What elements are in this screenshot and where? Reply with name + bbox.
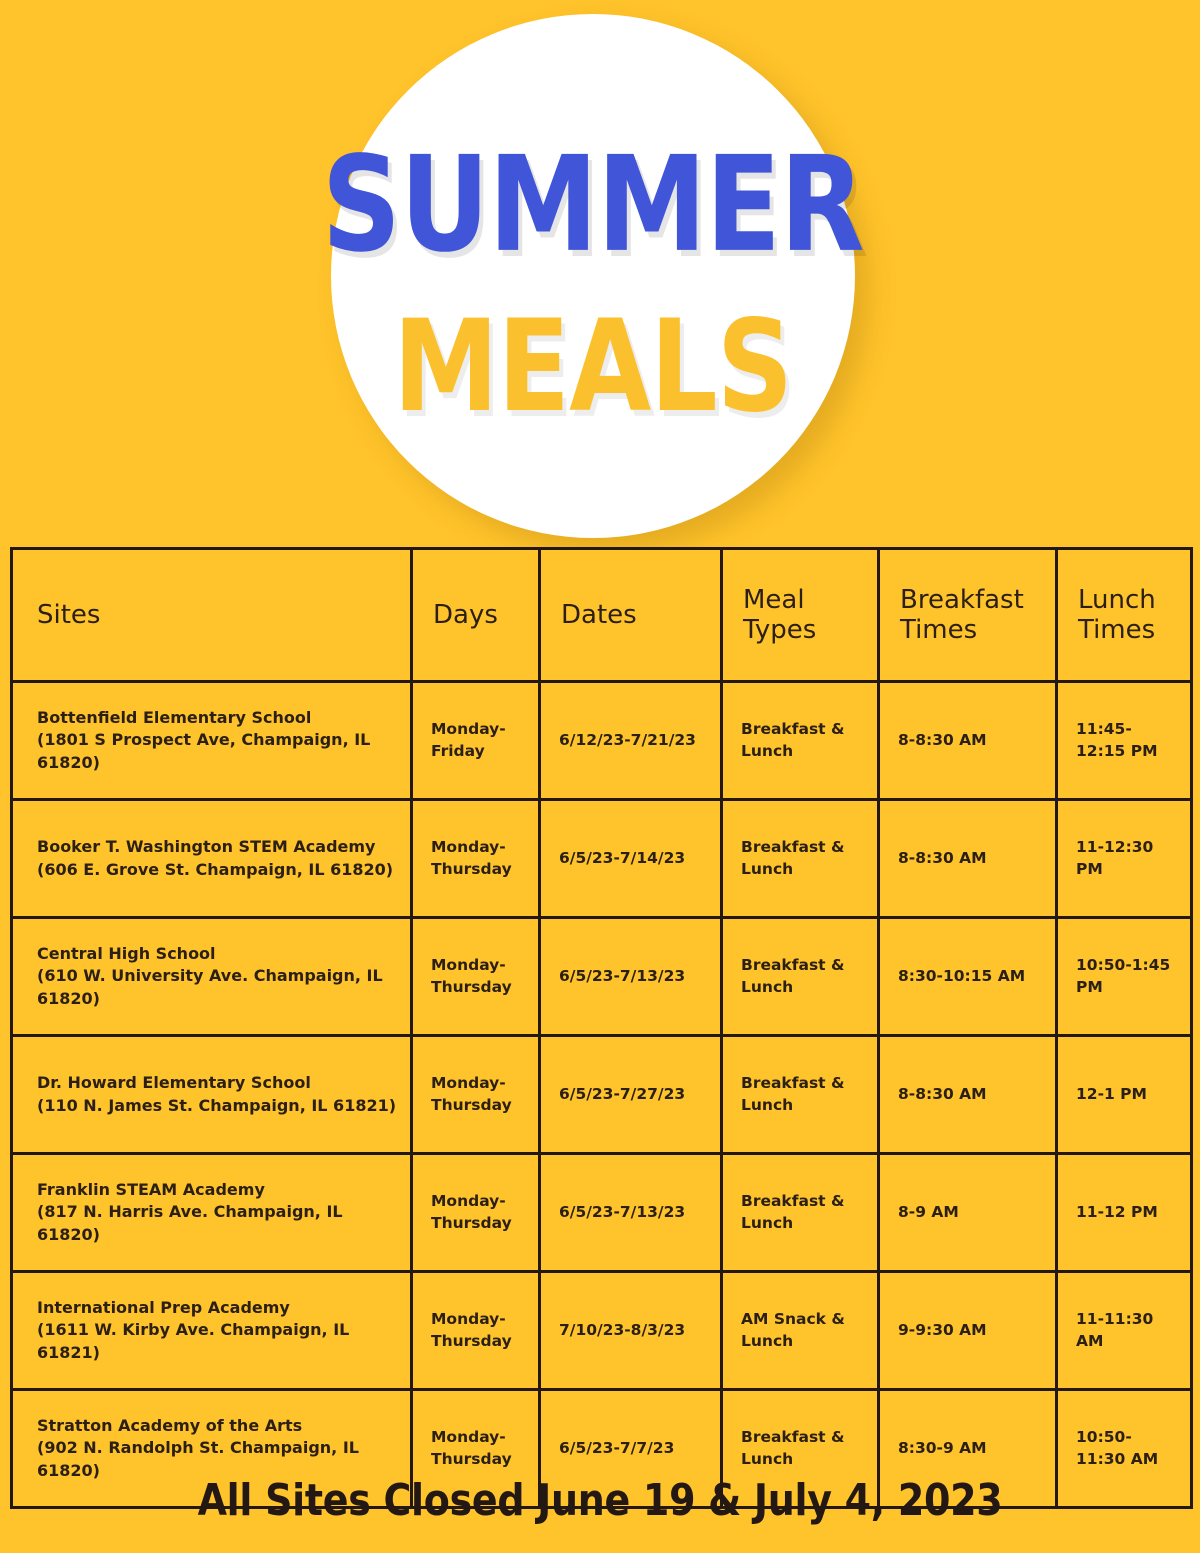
logo-header: SUMMER MEALS [0, 0, 1200, 540]
cell-days: Monday-Friday [412, 682, 540, 800]
cell-dates: 6/5/23-7/13/23 [540, 918, 722, 1036]
site-address: (110 N. James St. Champaign, IL 61821) [37, 1095, 398, 1117]
site-name: Dr. Howard Elementary School [37, 1072, 398, 1094]
cell-days: Monday-Thursday [412, 800, 540, 918]
cell-breakfast-times: 8-8:30 AM [879, 800, 1057, 918]
cell-site: International Prep Academy(1611 W. Kirby… [12, 1272, 412, 1390]
column-header-breakfast-times: Breakfast Times [879, 549, 1057, 682]
table-row: Franklin STEAM Academy(817 N. Harris Ave… [12, 1154, 1192, 1272]
cell-meal-types: Breakfast & Lunch [722, 918, 879, 1036]
cell-site: Booker T. Washington STEM Academy(606 E.… [12, 800, 412, 918]
cell-breakfast-times: 9-9:30 AM [879, 1272, 1057, 1390]
table-row: Central High School(610 W. University Av… [12, 918, 1192, 1036]
site-address: (1611 W. Kirby Ave. Champaign, IL 61821) [37, 1319, 398, 1363]
cell-days: Monday-Thursday [412, 1036, 540, 1154]
site-address: (817 N. Harris Ave. Champaign, IL 61820) [37, 1201, 398, 1245]
cell-days: Monday-Thursday [412, 1272, 540, 1390]
cell-lunch-times: 11-12 PM [1057, 1154, 1192, 1272]
logo-title-meals: MEALS [393, 303, 792, 430]
table-row: Booker T. Washington STEM Academy(606 E.… [12, 800, 1192, 918]
cell-lunch-times: 11:45-12:15 PM [1057, 682, 1192, 800]
column-header-dates: Dates [540, 549, 722, 682]
site-name: International Prep Academy [37, 1297, 398, 1319]
cell-site: Central High School(610 W. University Av… [12, 918, 412, 1036]
site-address: (610 W. University Ave. Champaign, IL 61… [37, 965, 398, 1009]
cell-dates: 6/12/23-7/21/23 [540, 682, 722, 800]
table-body: Bottenfield Elementary School(1801 S Pro… [12, 682, 1192, 1508]
site-name: Booker T. Washington STEM Academy [37, 836, 398, 858]
site-name: Bottenfield Elementary School [37, 707, 398, 729]
cell-meal-types: Breakfast & Lunch [722, 800, 879, 918]
table-header-row: Sites Days Dates Meal Types Breakfast Ti… [12, 549, 1192, 682]
cell-days: Monday-Thursday [412, 918, 540, 1036]
summer-meals-badge: SUMMER MEALS [331, 14, 855, 538]
column-header-lunch-times: Lunch Times [1057, 549, 1192, 682]
cell-breakfast-times: 8-9 AM [879, 1154, 1057, 1272]
cell-breakfast-times: 8-8:30 AM [879, 1036, 1057, 1154]
cell-lunch-times: 10:50-1:45 PM [1057, 918, 1192, 1036]
cell-dates: 7/10/23-8/3/23 [540, 1272, 722, 1390]
cell-dates: 6/5/23-7/13/23 [540, 1154, 722, 1272]
cell-dates: 6/5/23-7/27/23 [540, 1036, 722, 1154]
cell-meal-types: Breakfast & Lunch [722, 682, 879, 800]
cell-site: Bottenfield Elementary School(1801 S Pro… [12, 682, 412, 800]
table-row: Bottenfield Elementary School(1801 S Pro… [12, 682, 1192, 800]
site-name: Central High School [37, 943, 398, 965]
table-row: International Prep Academy(1611 W. Kirby… [12, 1272, 1192, 1390]
site-address: (1801 S Prospect Ave, Champaign, IL 6182… [37, 729, 398, 773]
cell-lunch-times: 11-11:30 AM [1057, 1272, 1192, 1390]
column-header-days: Days [412, 549, 540, 682]
site-address: (606 E. Grove St. Champaign, IL 61820) [37, 859, 398, 881]
column-header-sites: Sites [12, 549, 412, 682]
summer-meals-schedule-table: Sites Days Dates Meal Types Breakfast Ti… [10, 547, 1193, 1509]
table-row: Dr. Howard Elementary School(110 N. Jame… [12, 1036, 1192, 1154]
cell-meal-types: Breakfast & Lunch [722, 1154, 879, 1272]
cell-dates: 6/5/23-7/14/23 [540, 800, 722, 918]
cell-site: Dr. Howard Elementary School(110 N. Jame… [12, 1036, 412, 1154]
site-name: Franklin STEAM Academy [37, 1179, 398, 1201]
cell-lunch-times: 11-12:30 PM [1057, 800, 1192, 918]
column-header-meal-types: Meal Types [722, 549, 879, 682]
cell-breakfast-times: 8:30-10:15 AM [879, 918, 1057, 1036]
cell-lunch-times: 12-1 PM [1057, 1036, 1192, 1154]
closure-notice: All Sites Closed June 19 & July 4, 2023 [0, 1475, 1200, 1525]
logo-title-summer: SUMMER [322, 140, 864, 272]
site-name: Stratton Academy of the Arts [37, 1415, 398, 1437]
cell-meal-types: AM Snack & Lunch [722, 1272, 879, 1390]
cell-site: Franklin STEAM Academy(817 N. Harris Ave… [12, 1154, 412, 1272]
cell-days: Monday-Thursday [412, 1154, 540, 1272]
cell-meal-types: Breakfast & Lunch [722, 1036, 879, 1154]
cell-breakfast-times: 8-8:30 AM [879, 682, 1057, 800]
